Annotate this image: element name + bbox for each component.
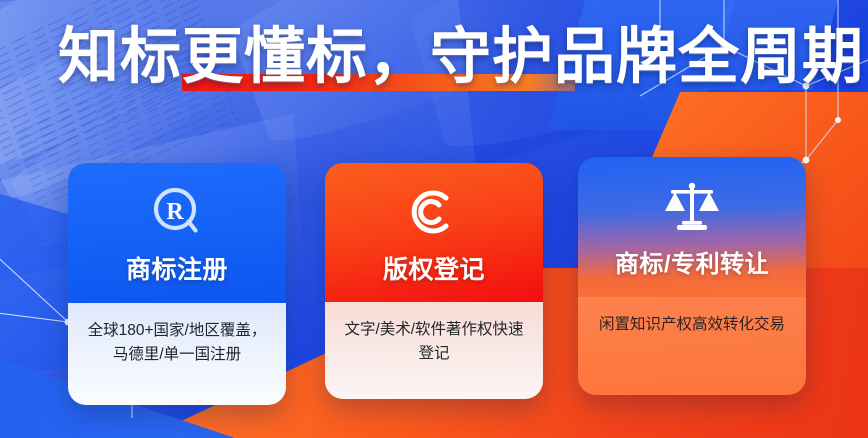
copyright-icon <box>406 183 462 241</box>
registered-trademark-icon: R <box>149 183 205 241</box>
card-header: 版权登记 <box>325 163 543 302</box>
card-title: 商标注册 <box>126 250 228 286</box>
service-card-trademark[interactable]: R 商标注册 全球180+国家/地区覆盖，马德里/单一国注册 <box>68 163 286 405</box>
scales-of-justice-icon <box>663 177 721 235</box>
service-card-transfer[interactable]: 商标/专利转让 闲置知识产权高效转化交易 <box>578 157 806 395</box>
service-card-list: R 商标注册 全球180+国家/地区覆盖，马德里/单一国注册 版权登记 <box>0 0 868 438</box>
card-body: 文字/美术/软件著作权快速登记 <box>325 302 543 399</box>
svg-text:R: R <box>166 199 184 225</box>
card-body: 全球180+国家/地区覆盖，马德里/单一国注册 <box>68 303 286 405</box>
card-body: 闲置知识产权高效转化交易 <box>578 297 806 395</box>
card-description: 闲置知识产权高效转化交易 <box>599 313 785 337</box>
promo-banner: 知标更懂标，守护品牌全周期 R 商标注册 全球180+国家/地区覆盖，马德里/单… <box>0 0 868 438</box>
card-header: 商标/专利转让 <box>578 157 806 297</box>
service-card-copyright[interactable]: 版权登记 文字/美术/软件著作权快速登记 <box>325 163 543 399</box>
card-title: 商标/专利转让 <box>615 244 769 279</box>
card-description: 全球180+国家/地区覆盖，马德里/单一国注册 <box>84 319 270 367</box>
card-title: 版权登记 <box>383 250 485 286</box>
card-header: R 商标注册 <box>68 163 286 303</box>
card-description: 文字/美术/软件著作权快速登记 <box>341 318 527 366</box>
